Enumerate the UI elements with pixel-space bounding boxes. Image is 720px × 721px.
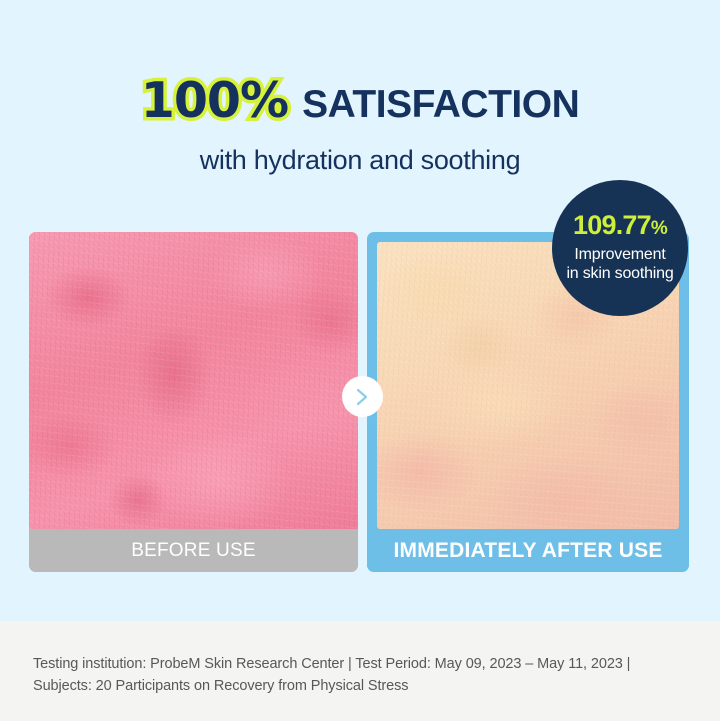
badge-value-unit: % bbox=[651, 218, 667, 239]
after-caption: IMMEDIATELY AFTER USE bbox=[367, 529, 689, 572]
footer: Testing institution: ProbeM Skin Researc… bbox=[0, 621, 720, 721]
footer-line-2: Subjects: 20 Participants on Recovery fr… bbox=[33, 675, 693, 697]
headline-word: SATISFACTION bbox=[302, 85, 579, 124]
headline: 100% SATISFACTION bbox=[0, 76, 720, 125]
promo-page: 100% SATISFACTION with hydration and soo… bbox=[0, 0, 720, 721]
badge-value-row: 109.77% bbox=[573, 212, 667, 239]
badge-line-2: in skin soothing bbox=[566, 265, 673, 284]
before-caption: BEFORE USE bbox=[29, 529, 358, 572]
badge-value: 109.77 bbox=[573, 210, 651, 240]
improvement-badge: 109.77% Improvement in skin soothing bbox=[552, 180, 688, 316]
chevron-right-icon bbox=[355, 387, 370, 407]
comparison-arrow bbox=[342, 376, 383, 417]
before-panel: BEFORE USE bbox=[29, 232, 358, 572]
header: 100% SATISFACTION with hydration and soo… bbox=[0, 76, 720, 176]
footer-line-1: Testing institution: ProbeM Skin Researc… bbox=[33, 653, 693, 675]
headline-percent: 100% bbox=[141, 76, 288, 125]
badge-line-1: Improvement bbox=[574, 246, 665, 265]
subheadline: with hydration and soothing bbox=[0, 145, 720, 176]
before-skin-image bbox=[29, 232, 358, 529]
footer-disclaimer: Testing institution: ProbeM Skin Researc… bbox=[33, 653, 693, 698]
